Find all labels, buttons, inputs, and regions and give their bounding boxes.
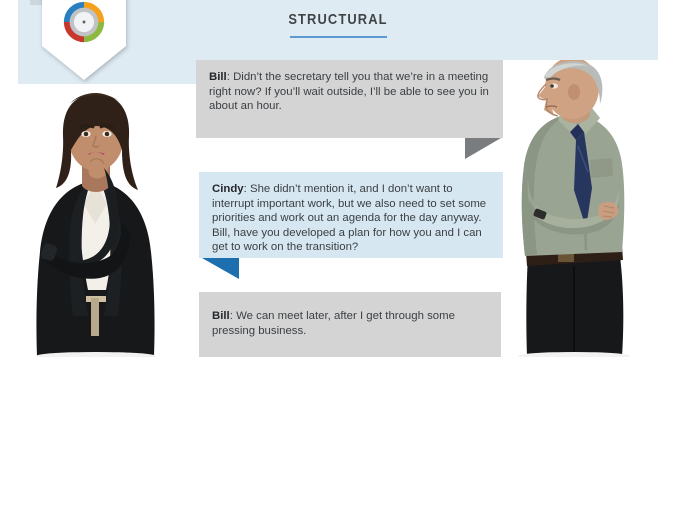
compass-icon xyxy=(60,0,108,46)
speech-bubble-bill-2: Bill: We can meet later, after I get thr… xyxy=(199,292,501,357)
man-arms-crossed-photo xyxy=(500,60,658,357)
speaker-name: Bill xyxy=(212,310,230,322)
slide-canvas: STRUCTURAL xyxy=(0,0,680,511)
speaker-name: Cindy xyxy=(212,183,244,195)
title-underline xyxy=(290,36,387,38)
speech-text: She didn’t mention it, and I don’t want … xyxy=(212,183,486,253)
speech-tail-bill-1 xyxy=(465,138,501,159)
speech-bubble-bill-1: Bill: Didn’t the secretary tell you that… xyxy=(196,60,503,138)
speech-text: Didn’t the secretary tell you that we’re… xyxy=(209,71,489,112)
woman-arms-crossed-photo xyxy=(18,84,173,357)
speech-text: We can meet later, after I get through s… xyxy=(212,310,455,337)
page-title: STRUCTURAL xyxy=(245,11,431,28)
speech-tail-cindy-1 xyxy=(202,258,239,279)
speaker-name: Bill xyxy=(209,71,227,83)
speech-bubble-cindy-1: Cindy: She didn’t mention it, and I don’… xyxy=(199,172,503,258)
logo-badge xyxy=(38,0,130,80)
speech-bubble-bill-2-content: Bill: We can meet later, after I get thr… xyxy=(212,309,488,338)
